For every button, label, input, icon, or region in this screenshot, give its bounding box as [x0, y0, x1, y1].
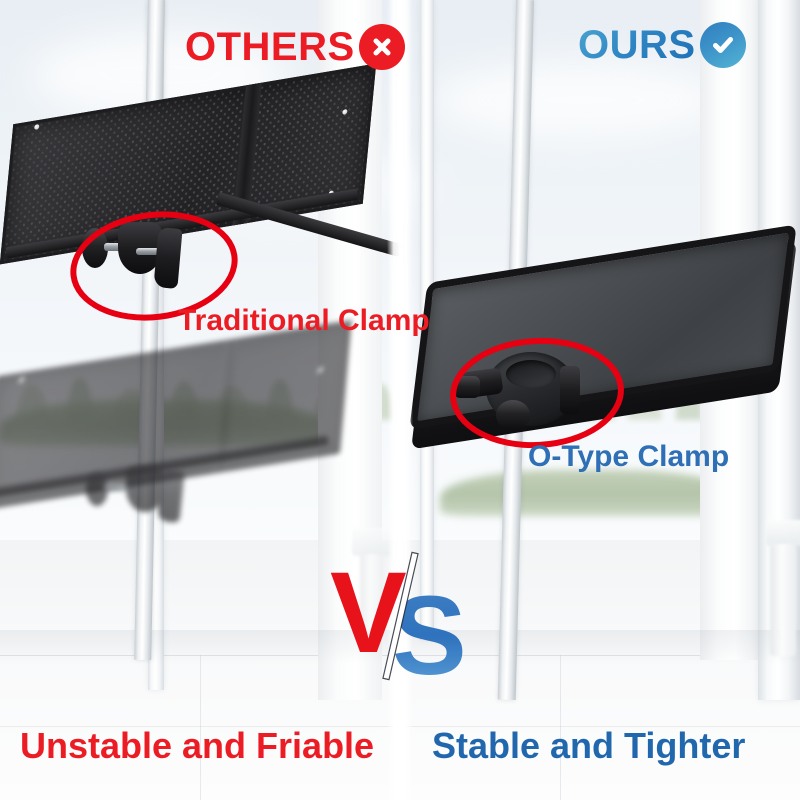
hedge: [440, 470, 740, 516]
caption-stable: Stable and Tighter: [432, 728, 745, 764]
sink-basin: [766, 520, 800, 546]
check-circle-icon: [700, 22, 746, 68]
caption-unstable: Unstable and Friable: [20, 728, 374, 764]
header-others: OTHERS: [185, 24, 405, 70]
cloud-shape: [430, 60, 730, 140]
callout-otype-clamp: O-Type Clamp: [528, 442, 729, 472]
header-others-label: OTHERS: [185, 27, 355, 67]
x-circle-icon: [359, 24, 405, 70]
vs-graphic: V S: [330, 556, 480, 676]
header-ours-label: OURS: [578, 25, 696, 65]
header-ours: OURS: [578, 22, 746, 68]
comparison-infographic: OTHERS OURS Traditional Clamp O-Type Cla…: [0, 0, 800, 800]
sink-pedestal: [770, 544, 796, 656]
callout-traditional-clamp: Traditional Clamp: [178, 306, 430, 336]
